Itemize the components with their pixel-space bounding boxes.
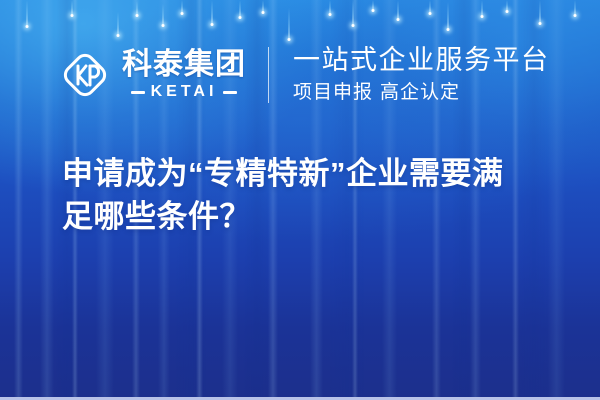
ketai-diamond-kp-monogram-icon [58,48,112,102]
headline-line-2: 足哪些条件？ [62,195,572,238]
slogan-secondary: 项目申报 高企认定 [293,81,550,104]
promo-banner: 科泰集团 KETAI 一站式企业服务平台 项目申报 高企认定 申请成为“专精特新… [0,0,600,400]
brand-wordmark: 科泰集团 KETAI [122,49,246,102]
banner-header: 科泰集团 KETAI 一站式企业服务平台 项目申报 高企认定 [0,40,600,110]
headline-block: 申请成为“专精特新”企业需要满 足哪些条件？ [62,152,572,238]
dash-left-icon [131,91,145,94]
dash-right-icon [223,91,237,94]
slogan-primary: 一站式企业服务平台 [293,46,550,76]
header-divider [268,47,269,103]
brand-name-en-row: KETAI [122,83,246,101]
brand-name-en: KETAI [151,83,218,101]
brand-slogan: 一站式企业服务平台 项目申报 高企认定 [293,46,550,104]
headline-line-1: 申请成为“专精特新”企业需要满 [62,152,572,195]
brand-logo[interactable]: 科泰集团 KETAI [58,48,246,102]
brand-name-cn: 科泰集团 [122,49,246,81]
